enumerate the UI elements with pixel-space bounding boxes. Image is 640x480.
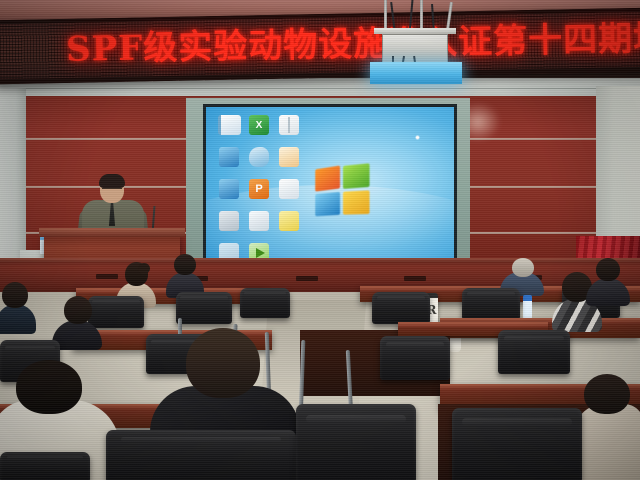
projector-lamp-glow (370, 62, 462, 84)
excel-file-icon[interactable] (249, 115, 269, 135)
chair[interactable] (462, 288, 520, 320)
thin-file-icon[interactable] (249, 211, 269, 231)
chair[interactable] (452, 408, 582, 480)
chair[interactable] (240, 288, 290, 318)
book-icon[interactable] (279, 115, 299, 135)
page-file-icon[interactable] (279, 179, 299, 199)
grey-app-icon[interactable] (219, 211, 239, 231)
attendee-right-foreground (574, 376, 640, 480)
attendee-right-mid (586, 258, 630, 302)
windows-logo-icon (315, 164, 373, 220)
chair[interactable] (176, 292, 232, 324)
blue-water-bottle (523, 295, 532, 319)
led-banner-board: SPF级实验动物设施准入证第十四期培训班 (0, 8, 640, 85)
powerpoint-icon[interactable] (249, 179, 269, 199)
projection-screen (206, 107, 454, 263)
paper-cup (449, 336, 461, 352)
led-banner-text: SPF级实验动物设施准入证第十四期培训班 (66, 16, 640, 72)
chair[interactable] (296, 404, 416, 480)
chair[interactable] (498, 330, 570, 374)
warm-app-icon[interactable] (279, 147, 299, 167)
cloud-app-icon[interactable] (249, 147, 269, 167)
blue-folder-icon[interactable] (219, 179, 239, 199)
attendee-mid-back (52, 296, 102, 346)
attendee-dark-suit (166, 254, 204, 296)
ceiling-projector (362, 0, 474, 92)
document-icon[interactable] (218, 115, 241, 135)
chair[interactable] (372, 292, 430, 324)
desktop-icon-grid (216, 115, 302, 263)
attendee-left-edge (0, 282, 36, 330)
chair[interactable] (0, 452, 90, 480)
blue-app-icon[interactable] (219, 147, 239, 167)
yellow-folder-icon[interactable] (279, 211, 299, 231)
chair[interactable] (106, 430, 296, 480)
wallpaper-sparkle (415, 135, 420, 140)
lecture-hall-photo: SPF级实验动物设施准入证第十四期培训班 (0, 0, 640, 480)
glasses-icon (102, 188, 122, 193)
chair[interactable] (380, 336, 450, 380)
